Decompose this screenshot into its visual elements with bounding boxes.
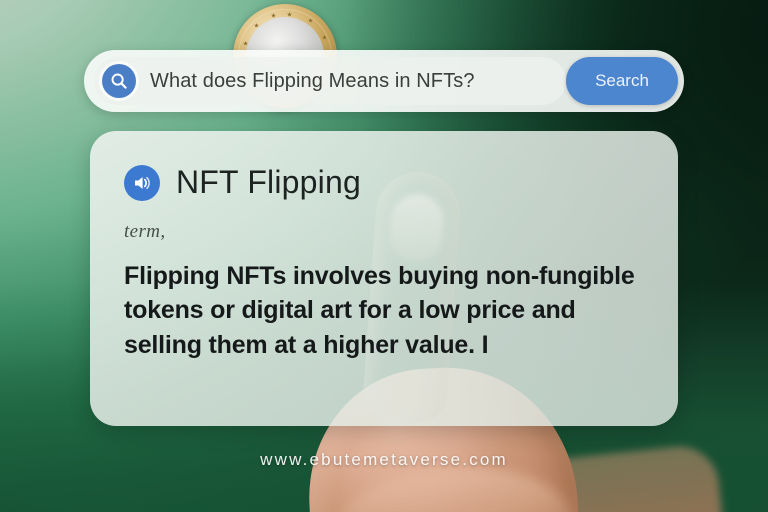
definition-card-header: NFT Flipping xyxy=(124,164,644,201)
search-icon[interactable] xyxy=(102,64,136,98)
speaker-audio-icon[interactable] xyxy=(124,165,160,201)
definition-text: Flipping NFTs involves buying non-fungib… xyxy=(124,259,644,362)
page-title: NFT Flipping xyxy=(176,164,361,201)
definition-card: NFT Flipping term, Flipping NFTs involve… xyxy=(90,131,678,426)
screenshot-stage: What does Flipping Means in NFTs? Search… xyxy=(0,0,768,512)
search-button[interactable]: Search xyxy=(566,57,678,105)
site-watermark: www.ebutemetaverse.com xyxy=(0,450,768,470)
search-bar[interactable]: What does Flipping Means in NFTs? Search xyxy=(84,50,684,112)
part-of-speech-label: term, xyxy=(124,221,644,243)
search-input[interactable]: What does Flipping Means in NFTs? xyxy=(94,57,566,105)
search-query-text[interactable]: What does Flipping Means in NFTs? xyxy=(150,70,475,93)
